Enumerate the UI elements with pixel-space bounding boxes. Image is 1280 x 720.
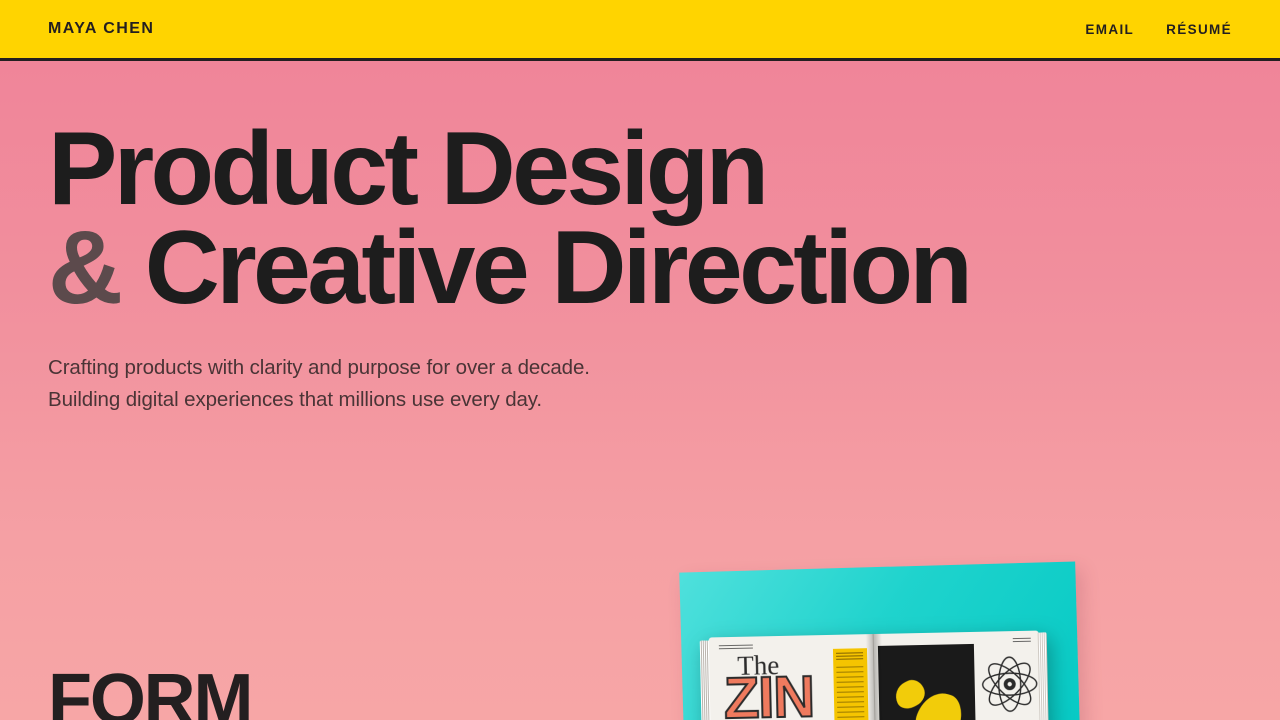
hero-ampersand: &: [48, 210, 119, 326]
hero-subtitle: Crafting products with clarity and purpo…: [48, 352, 969, 417]
brand-name[interactable]: MAYA CHEN: [48, 20, 154, 38]
magazine-yellow-sidebar: [833, 648, 869, 720]
artwork-open-magazine: The ZIN: [660, 545, 1100, 720]
hero-headline-line-2: & Creative Direction: [48, 219, 969, 318]
magazine-kicker-text: [719, 645, 753, 651]
magazine-page-right: [874, 631, 1042, 720]
nav-link-email[interactable]: EMAIL: [1085, 22, 1134, 37]
nav-link-resume[interactable]: RÉSUMÉ: [1166, 22, 1232, 37]
atom-diagram-icon: [978, 653, 1041, 716]
hero-headline-line-1: Product Design: [48, 120, 969, 219]
page-root: MAYA CHEN EMAIL RÉSUMÉ Product Design & …: [0, 0, 1280, 720]
section-heading-form: FORM: [48, 664, 251, 720]
primary-nav: EMAIL RÉSUMÉ: [1085, 22, 1232, 37]
hero-headline-line-2-text: Creative Direction: [119, 210, 969, 326]
hero-subtitle-line-2: Building digital experiences that millio…: [48, 384, 969, 416]
open-magazine-spread: The ZIN: [709, 631, 1042, 720]
magazine-black-panel: [878, 644, 976, 720]
magazine-sidebar-body-lines: [836, 666, 865, 720]
magazine-page-left: The ZIN: [709, 634, 877, 720]
magazine-sidebar-heading-lines: [836, 652, 863, 662]
magazine-folio-text: [1013, 638, 1031, 642]
hero-subtitle-line-1: Crafting products with clarity and purpo…: [48, 352, 969, 384]
magazine-title-label: ZIN: [723, 673, 814, 720]
site-header: MAYA CHEN EMAIL RÉSUMÉ: [0, 0, 1280, 61]
hero-section: Product Design & Creative Direction Craf…: [48, 120, 969, 416]
